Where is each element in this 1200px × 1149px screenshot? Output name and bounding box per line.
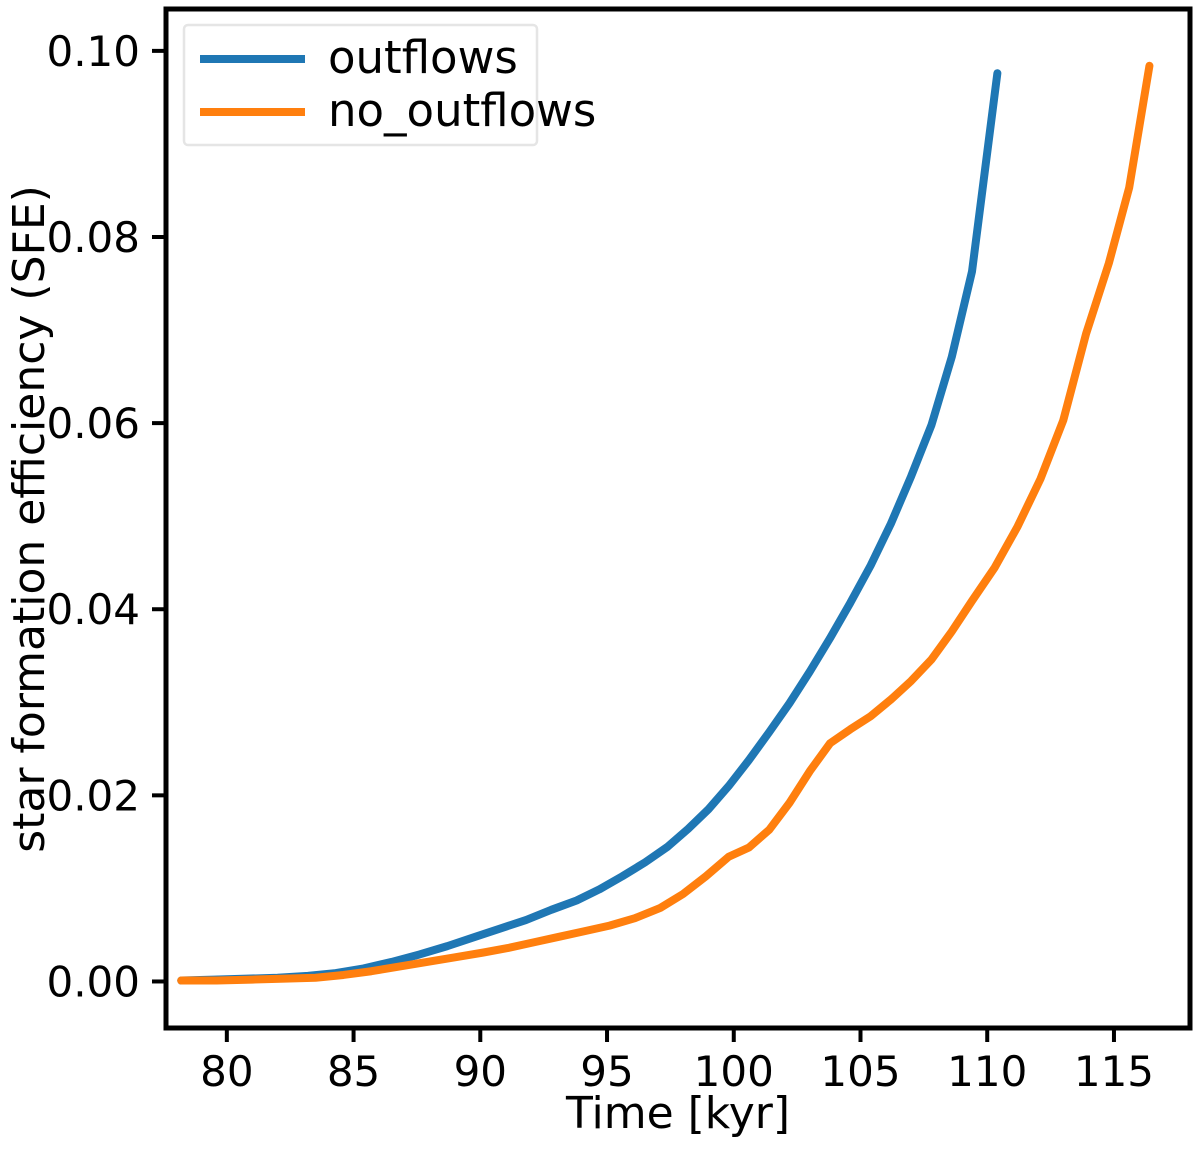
line-chart: 80859095100105110115 0.000.020.040.060.0… (0, 0, 1200, 1149)
legend-label-outflows: outflows (328, 31, 518, 84)
y-tick-label: 0.10 (46, 27, 140, 76)
chart-figure: 80859095100105110115 0.000.020.040.060.0… (0, 0, 1200, 1149)
plot-background (166, 9, 1190, 1028)
y-tick-label: 0.02 (46, 771, 140, 820)
x-tick-label: 110 (947, 1047, 1027, 1096)
x-tick-label: 105 (820, 1047, 900, 1096)
y-tick-label: 0.06 (46, 399, 140, 448)
y-axis-title: star formation efficiency (SFE) (4, 185, 55, 853)
x-tick-label: 80 (200, 1047, 253, 1096)
x-tick-label: 85 (327, 1047, 380, 1096)
y-tick-label: 0.04 (46, 585, 140, 634)
x-tick-label: 115 (1074, 1047, 1154, 1096)
legend-label-no-outflows: no_outflows (328, 84, 596, 137)
x-tick-label: 90 (454, 1047, 507, 1096)
x-axis-title: Time [kyr] (565, 1088, 790, 1139)
x-axis-ticks: 80859095100105110115 (200, 1028, 1154, 1096)
chart-legend[interactable]: outflows no_outflows (184, 25, 596, 145)
y-axis-ticks: 0.000.020.040.060.080.10 (46, 27, 166, 1007)
y-tick-label: 0.08 (46, 213, 140, 262)
y-tick-label: 0.00 (46, 957, 140, 1006)
